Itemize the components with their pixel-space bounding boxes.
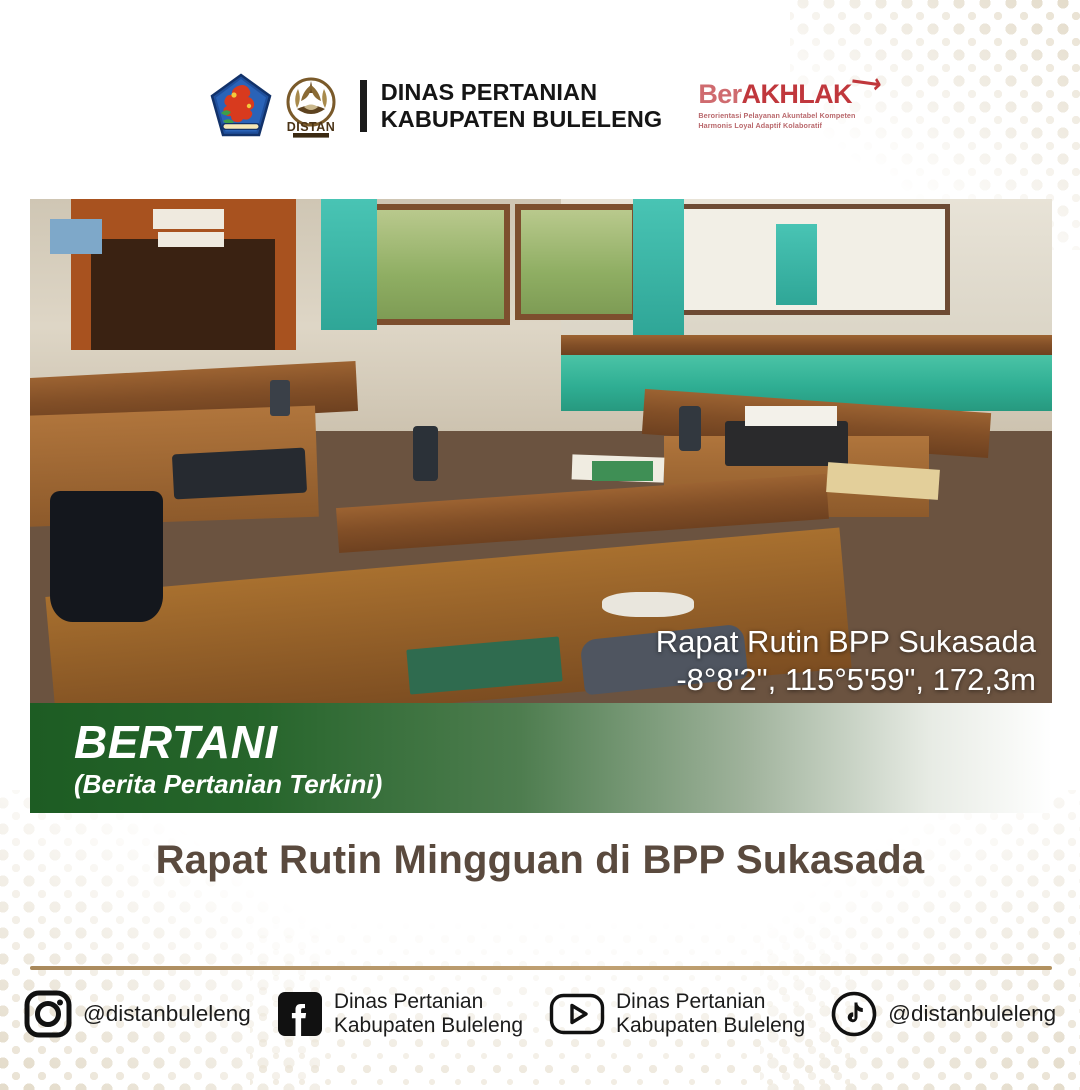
- photo-caption: Rapat Rutin BPP Sukasada -8°8'2", 115°5'…: [656, 623, 1036, 699]
- header-divider-rule: [360, 80, 367, 132]
- scene-green-box: [592, 461, 653, 481]
- banner-title: BERTANI: [74, 719, 1052, 766]
- photo-caption-line-2: -8°8'2", 115°5'59", 172,3m: [656, 661, 1036, 699]
- scene-plastic-bag: [602, 592, 694, 617]
- organization-name: DINAS PERTANIAN KABUPATEN BULELENG: [381, 79, 663, 133]
- berakhlak-tagline-line-1: Berorientasi Pelayanan Akuntabel Kompete…: [698, 111, 870, 121]
- social-label-instagram: @distanbuleleng: [83, 1001, 251, 1027]
- youtube-icon[interactable]: [549, 993, 605, 1035]
- social-item-youtube[interactable]: Dinas Pertanian Kabupaten Buleleng: [549, 990, 805, 1039]
- social-item-instagram[interactable]: @distanbuleleng: [24, 990, 251, 1038]
- meeting-photo: Rapat Rutin BPP Sukasada -8°8'2", 115°5'…: [30, 199, 1052, 703]
- social-label-tiktok: @distanbuleleng: [888, 1001, 1056, 1027]
- berakhlak-tagline-line-2: Harmonis Loyal Adaptif Kolaboratif: [698, 121, 870, 131]
- scene-books-1: [153, 209, 225, 229]
- social-label-facebook-line-2: Kabupaten Buleleng: [334, 1014, 523, 1038]
- scene-jacket: [50, 491, 162, 622]
- buleleng-regency-crest-icon: [210, 73, 272, 139]
- distan-logo-icon: DISTAN: [278, 73, 344, 139]
- footer-divider: [30, 966, 1052, 970]
- org-line-2: KABUPATEN BULELENG: [381, 106, 663, 133]
- photo-caption-line-1: Rapat Rutin BPP Sukasada: [656, 623, 1036, 661]
- scene-curtain-2: [633, 199, 684, 335]
- social-item-facebook[interactable]: Dinas Pertanian Kabupaten Buleleng: [277, 990, 523, 1039]
- scene-curtain-1: [321, 199, 377, 330]
- berakhlak-wordmark: BerAKHLAK⟶: [698, 81, 870, 108]
- berakhlak-tagline: Berorientasi Pelayanan Akuntabel Kompete…: [698, 111, 870, 131]
- scene-poster: [50, 219, 101, 254]
- scene-bottle-3: [270, 380, 289, 415]
- instagram-icon[interactable]: [24, 990, 72, 1038]
- scene-back-table-top: [561, 335, 1052, 355]
- berakhlak-suffix: AKHLAK: [742, 79, 852, 109]
- scene-bottle-1: [413, 426, 438, 481]
- scene-bottle-2: [679, 406, 701, 451]
- scene-books-2: [158, 232, 224, 247]
- svg-text:DISTAN: DISTAN: [286, 120, 335, 134]
- scene-cabinet-shelf: [91, 239, 275, 350]
- social-label-youtube-line-1: Dinas Pertanian: [616, 990, 805, 1014]
- berakhlak-prefix: Ber: [698, 79, 741, 109]
- social-label-youtube-line-2: Kabupaten Buleleng: [616, 1014, 805, 1038]
- tiktok-icon[interactable]: [831, 991, 877, 1037]
- org-line-1: DINAS PERTANIAN: [381, 79, 663, 106]
- scene-window-1: [367, 204, 510, 325]
- scene-printer: [725, 421, 848, 466]
- social-label-youtube: Dinas Pertanian Kabupaten Buleleng: [616, 990, 805, 1039]
- bertani-banner: BERTANI (Berita Pertanian Terkini): [30, 703, 1052, 813]
- banner-subtitle: (Berita Pertanian Terkini): [74, 771, 1052, 797]
- header: DISTAN DINAS PERTANIAN KABUPATEN BULELEN…: [0, 62, 1080, 150]
- scene-curtain-3: [776, 224, 817, 305]
- page-title: Rapat Rutin Mingguan di BPP Sukasada: [0, 838, 1080, 883]
- social-item-tiktok[interactable]: @distanbuleleng: [831, 991, 1056, 1037]
- scene-window-2: [515, 204, 638, 320]
- berakhlak-logo: BerAKHLAK⟶ Berorientasi Pelayanan Akunta…: [698, 81, 870, 131]
- social-label-facebook-line-1: Dinas Pertanian: [334, 990, 523, 1014]
- social-label-facebook: Dinas Pertanian Kabupaten Buleleng: [334, 990, 523, 1039]
- swoosh-arrow-icon: ⟶: [850, 67, 883, 97]
- scene-laptop-bag: [172, 448, 307, 500]
- scene-paper-tray: [745, 406, 837, 426]
- social-links-bar: @distanbuleleng Dinas Pertanian Kabupate…: [0, 982, 1080, 1046]
- facebook-icon[interactable]: [277, 991, 323, 1037]
- photo-scene: Rapat Rutin BPP Sukasada -8°8'2", 115°5'…: [30, 199, 1052, 703]
